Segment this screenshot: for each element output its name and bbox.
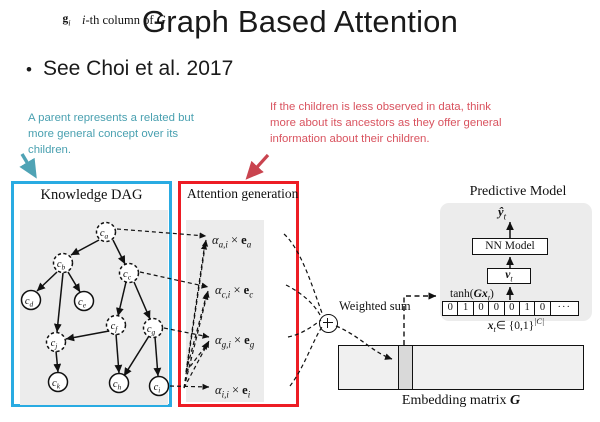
dag-edge-c-f xyxy=(118,282,126,316)
dag-edge-j-k xyxy=(56,351,58,372)
link-i-sum xyxy=(290,327,322,386)
sum-to-embedding-link xyxy=(336,326,392,359)
link-cc-alpha-c xyxy=(140,272,208,287)
dag-edge-g-h xyxy=(124,336,149,376)
slide-canvas: Graph Based Attention • See Choi et al. … xyxy=(0,0,600,422)
dag-edge-b-j xyxy=(57,273,63,332)
dag-edge-b-d xyxy=(37,272,57,291)
link-ca-alpha-a xyxy=(117,229,206,236)
dag-edge-a-c xyxy=(113,240,125,264)
dag-graph: ca cb cc cd ce cf cg cj ck ch ci xyxy=(22,223,169,396)
dag-edge-f-h xyxy=(116,334,119,373)
link-g-sum xyxy=(288,320,321,337)
diagram-overlay: ca cb cc cd ce cf cg cj ck ch ci xyxy=(0,0,600,422)
teal-annotation-arrow-icon xyxy=(22,154,34,174)
link-ci-alpha-i xyxy=(170,386,209,387)
link-c-sum xyxy=(286,285,320,315)
attention-to-sum-links xyxy=(284,234,322,386)
dag-edge-f-j xyxy=(66,331,109,339)
dag-edge-g-i xyxy=(155,337,158,376)
red-annotation-arrow-icon xyxy=(249,155,268,176)
link-a-sum xyxy=(284,234,322,313)
embedding-to-model-link xyxy=(404,296,436,345)
dag-edge-a-b xyxy=(71,240,99,255)
dag-edge-c-g xyxy=(134,282,150,319)
dag-edge-b-e xyxy=(68,272,80,292)
link-fan-c xyxy=(184,291,208,388)
link-cg-alpha-g xyxy=(164,328,209,337)
